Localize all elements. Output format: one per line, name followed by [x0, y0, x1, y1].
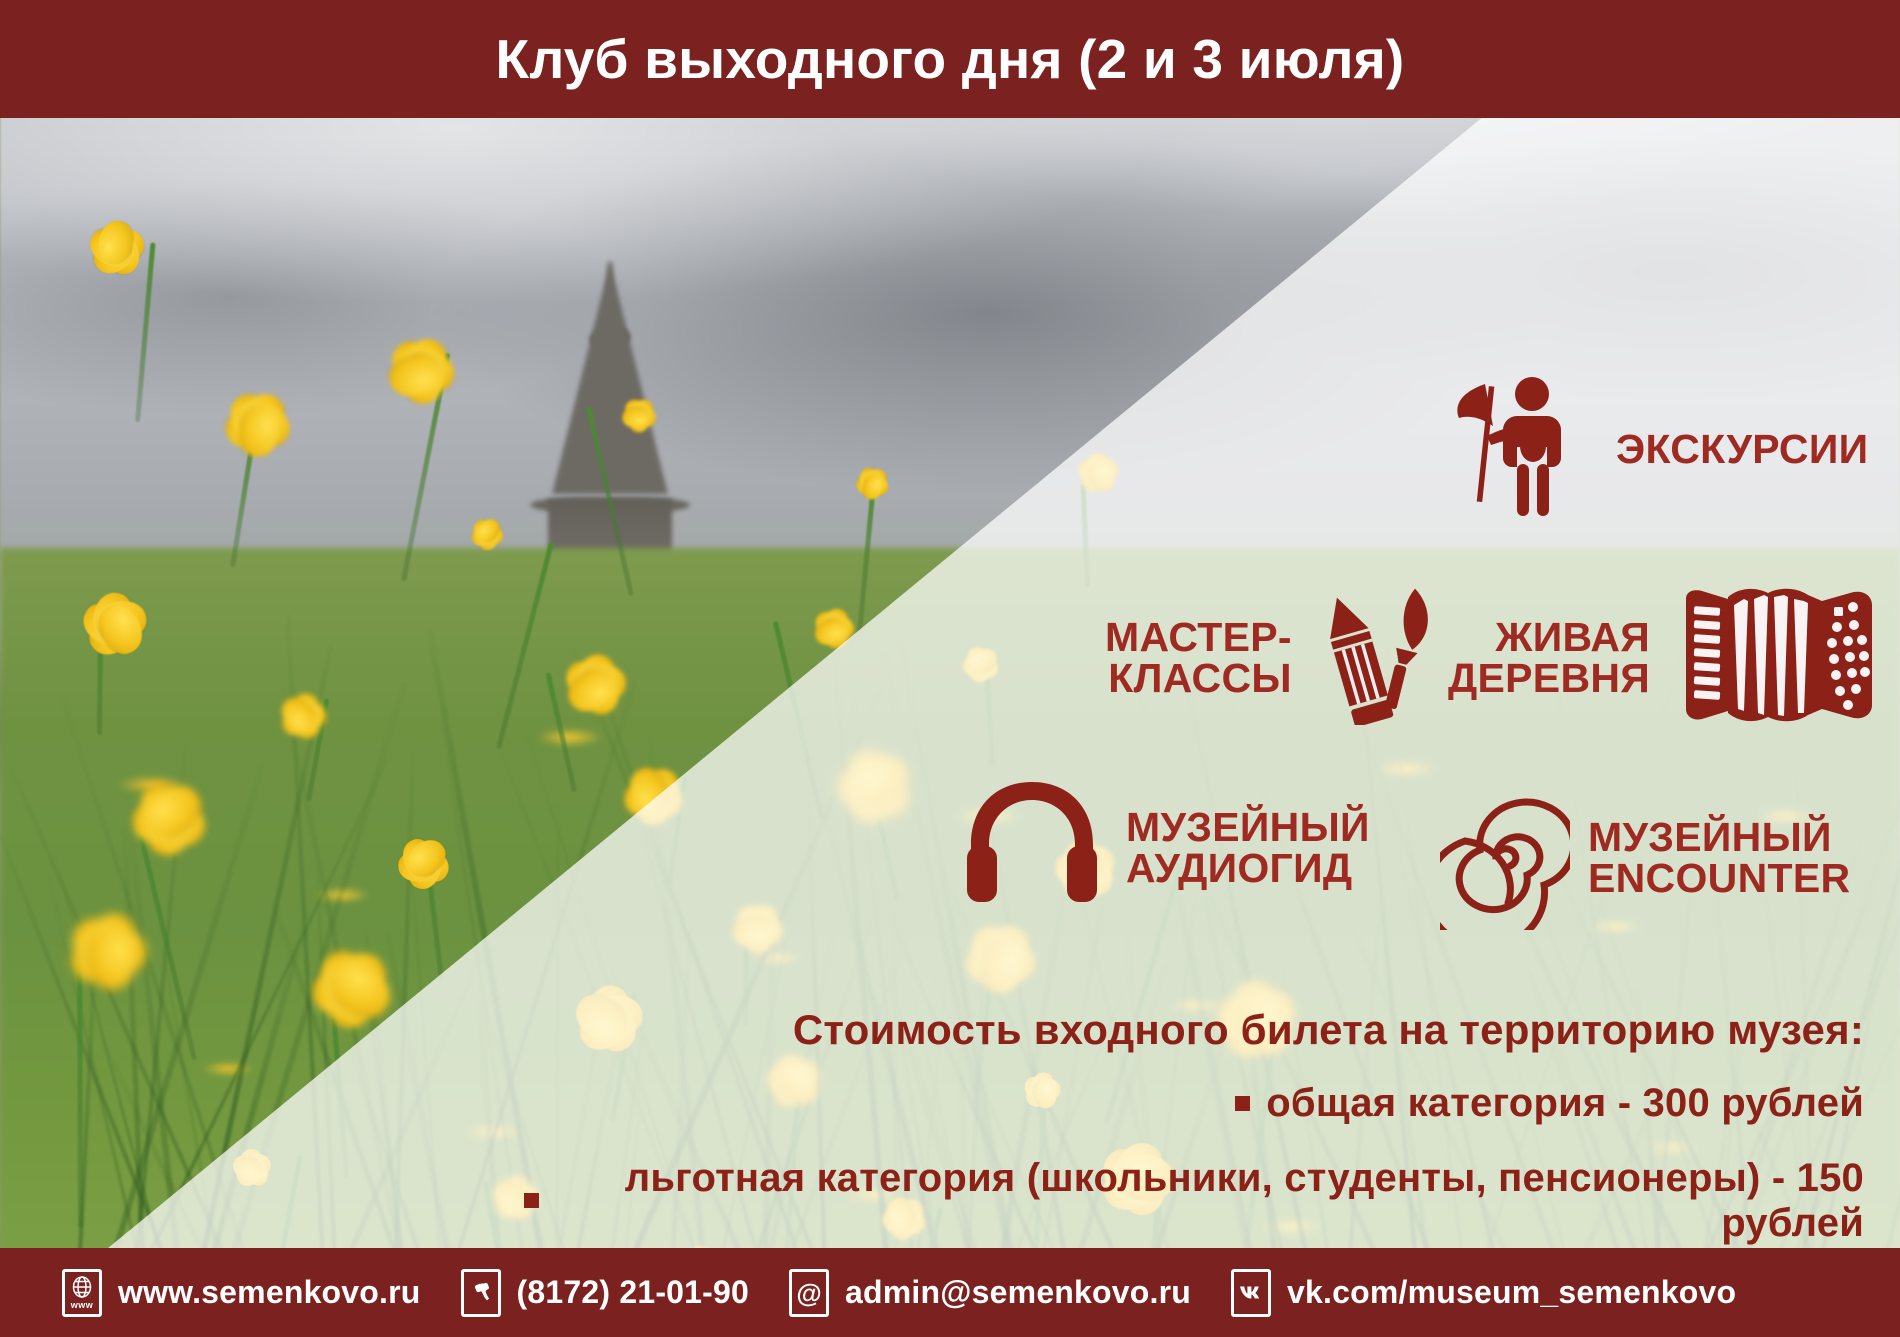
vk-icon [1231, 1269, 1271, 1317]
feature-label-museum-audioguide: МУЗЕЙНЫЙ АУДИОГИД [1126, 807, 1370, 889]
buttercup-flower [42, 587, 159, 703]
website-url[interactable]: www.semenkovo.ru [118, 1274, 421, 1311]
headphones-icon [965, 780, 1100, 915]
buttercup-flower [605, 374, 658, 436]
bullet-icon [524, 1193, 539, 1208]
flower-stem [586, 407, 634, 597]
feature-label-museum-encounter: МУЗЕЙНЫЙ ENCOUNTER [1588, 817, 1850, 899]
pricing-item-general-text: общая категория - 300 рублей [1266, 1081, 1864, 1126]
buttercup-flower [289, 950, 405, 1089]
phone-icon [461, 1269, 501, 1317]
feature-museum-audioguide[interactable]: МУЗЕЙНЫЙ АУДИОГИД [965, 780, 1370, 915]
www-text: www [71, 1301, 94, 1310]
flower-stem [773, 621, 824, 819]
header-bar: Клуб выходного дня (2 и 3 июля) [0, 0, 1900, 118]
buttercup-flower [227, 1121, 276, 1185]
pricing-item-reduced-text: льготная категория (школьники, студенты,… [555, 1156, 1864, 1246]
feature-master-classes[interactable]: МАСТЕР- КЛАССЫ [1105, 585, 1444, 730]
buttercup-flower [1051, 449, 1125, 521]
pricing-block: Стоимость входного билета на территорию … [524, 1006, 1864, 1275]
page-title: Клуб выходного дня (2 и 3 июля) [496, 27, 1405, 91]
pricing-item-general: общая категория - 300 рублей [524, 1081, 1864, 1126]
buttercup-flower [916, 922, 1031, 1009]
tour-guide-with-flag-icon [1455, 372, 1590, 527]
email-address[interactable]: admin@semenkovo.ru [845, 1274, 1191, 1311]
pricing-item-reduced: льготная категория (школьники, студенты,… [524, 1156, 1864, 1246]
bullet-icon [1235, 1096, 1250, 1111]
vk-url[interactable]: vk.com/museum_semenkovo [1287, 1274, 1736, 1311]
feature-label-excursions: ЭКСКУРСИИ [1616, 429, 1868, 470]
buttercup-flower [835, 467, 885, 502]
globe-www-icon: www [62, 1269, 102, 1317]
buttercup-flower [786, 581, 858, 655]
buttercup-flower [180, 391, 286, 471]
buttercup-flower [615, 726, 725, 831]
buttercup-flower [394, 828, 489, 917]
phone-number[interactable]: (8172) 21-01-90 [517, 1274, 749, 1311]
email-at-icon: @ [789, 1269, 829, 1317]
buttercup-flower [830, 736, 966, 874]
buttercup-flower [519, 617, 632, 727]
at-glyph: @ [796, 1280, 821, 1306]
footer-contact-bar: www www.semenkovo.ru (8172) 21-01-90 @ a… [0, 1248, 1900, 1337]
buttercup-flower [347, 290, 460, 413]
buttercup-flower [271, 656, 346, 740]
contact-website[interactable]: www www.semenkovo.ru [62, 1269, 421, 1317]
feature-museum-encounter[interactable]: МУЗЕЙНЫЙ ENCOUNTER [1440, 780, 1850, 935]
buttercup-flower [705, 866, 788, 959]
contact-phone[interactable]: (8172) 21-01-90 [461, 1269, 749, 1317]
feature-label-living-village: ЖИВАЯ ДЕРЕВНЯ [1448, 617, 1650, 699]
contact-email[interactable]: @ admin@semenkovo.ru [789, 1269, 1191, 1317]
flower-stem [857, 483, 876, 633]
feature-living-village[interactable]: ЖИВАЯ ДЕРЕВНЯ [1448, 585, 1887, 730]
spiral-fingerprint-icon [1440, 780, 1570, 935]
buttercup-flower [95, 213, 182, 276]
feature-label-master-classes: МАСТЕР- КЛАССЫ [1105, 617, 1292, 699]
feature-excursions[interactable]: ЭКСКУРСИИ [1455, 372, 1868, 527]
poster: Клуб выходного дня (2 и 3 июля) [0, 0, 1900, 1337]
accordion-icon [1672, 585, 1887, 730]
pricing-title: Стоимость входного билета на территорию … [524, 1006, 1864, 1053]
buttercup-flower [470, 512, 528, 564]
buttercup-flower [960, 639, 1027, 704]
buttercup-flower [11, 907, 150, 1025]
buttercup-flower [127, 768, 263, 897]
contact-vk[interactable]: vk.com/museum_semenkovo [1231, 1269, 1736, 1317]
pencil-and-brush-icon [1314, 585, 1444, 730]
